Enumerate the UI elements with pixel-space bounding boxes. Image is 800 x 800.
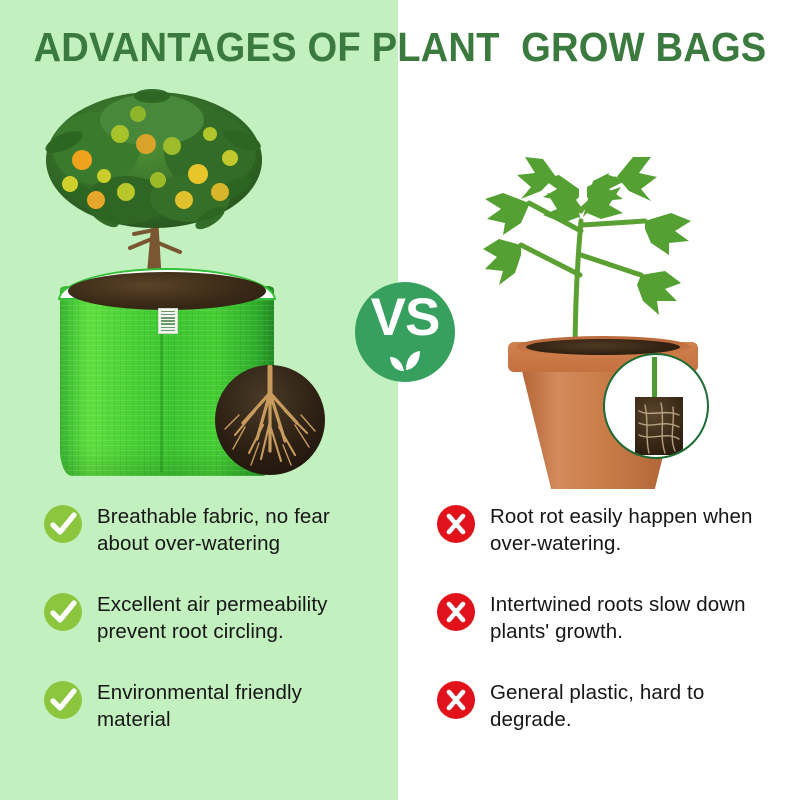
- list-item-label: Breathable fabric, no fear about over-wa…: [97, 503, 330, 557]
- cross-icon: [437, 681, 475, 719]
- root-bound-soil-block-closeup: [603, 353, 709, 459]
- inset-soil-block: [635, 397, 683, 455]
- infographic-canvas: ADVANTAGES OF PLANT GROW BAGS: [0, 0, 800, 800]
- check-icon: [44, 593, 82, 631]
- grow-bag-label-tag: [158, 308, 178, 334]
- page-title: ADVANTAGES OF PLANT GROW BAGS: [28, 24, 772, 70]
- list-item-label: Root rot easily happen when over-waterin…: [490, 503, 753, 557]
- list-item: Root rot easily happen when over-waterin…: [437, 503, 767, 557]
- cross-icon: [437, 593, 475, 631]
- tomato-seedling-illustration: [455, 125, 735, 360]
- leaf-icon: [389, 348, 421, 372]
- grow-bag-soil: [68, 272, 266, 310]
- list-item: Intertwined roots slow down plants' grow…: [437, 591, 767, 645]
- list-item-label: Excellent air permeability prevent root …: [97, 591, 327, 645]
- list-item: Breathable fabric, no fear about over-wa…: [44, 503, 374, 557]
- list-item-label: General plastic, hard to degrade.: [490, 679, 704, 733]
- versus-label: VS: [355, 290, 455, 346]
- list-item: Excellent air permeability prevent root …: [44, 591, 374, 645]
- versus-badge: VS: [355, 282, 455, 382]
- citrus-tree-illustration: [34, 88, 284, 288]
- list-item: General plastic, hard to degrade.: [437, 679, 767, 733]
- advantages-list: Breathable fabric, no fear about over-wa…: [44, 503, 374, 733]
- list-item-label: Environmental friendly material: [97, 679, 302, 733]
- check-icon: [44, 505, 82, 543]
- list-item-label: Intertwined roots slow down plants' grow…: [490, 591, 746, 645]
- healthy-root-system-closeup: [215, 365, 325, 475]
- list-item: Environmental friendly material: [44, 679, 374, 733]
- disadvantages-list: Root rot easily happen when over-waterin…: [437, 503, 767, 733]
- cross-icon: [437, 505, 475, 543]
- check-icon: [44, 681, 82, 719]
